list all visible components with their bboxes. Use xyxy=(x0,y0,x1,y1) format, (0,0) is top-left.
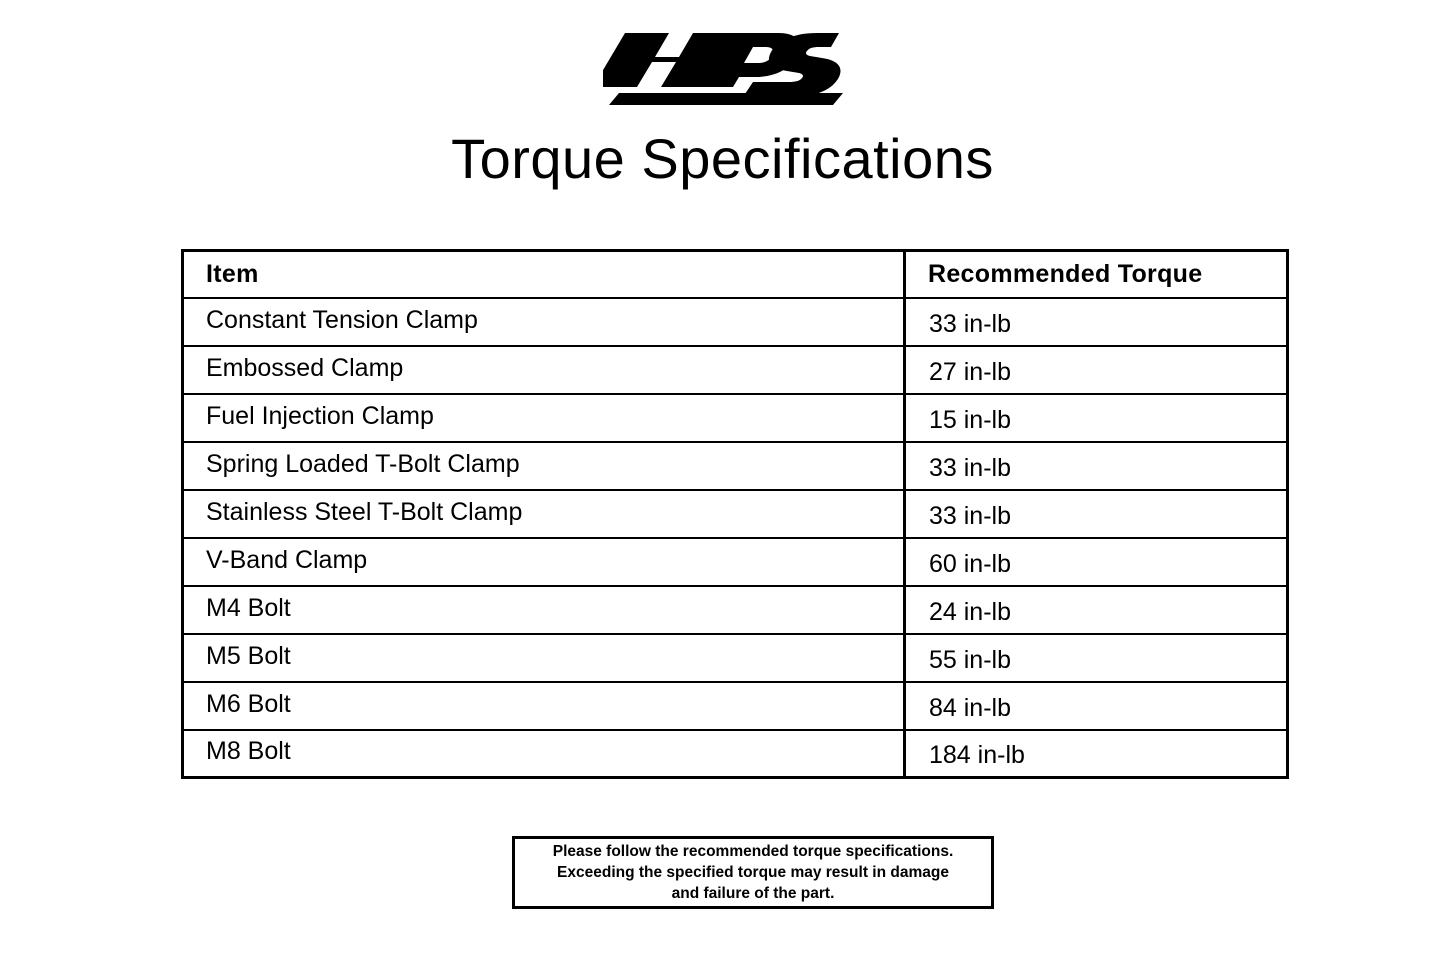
warning-note-box: Please follow the recommended torque spe… xyxy=(512,836,994,909)
cell-torque: 184 in-lb xyxy=(905,730,1288,778)
hps-logo-icon xyxy=(603,31,843,105)
note-line: Exceeding the specified torque may resul… xyxy=(557,862,949,883)
table-row: M5 Bolt 55 in-lb xyxy=(183,634,1288,682)
cell-item: M4 Bolt xyxy=(183,586,905,634)
table-row: M6 Bolt 84 in-lb xyxy=(183,682,1288,730)
column-header-recommended-torque: Recommended Torque xyxy=(905,251,1288,298)
table-row: Stainless Steel T-Bolt Clamp 33 in-lb xyxy=(183,490,1288,538)
cell-item: Embossed Clamp xyxy=(183,346,905,394)
cell-item: M6 Bolt xyxy=(183,682,905,730)
cell-torque: 60 in-lb xyxy=(905,538,1288,586)
column-header-item: Item xyxy=(183,251,905,298)
brand-logo xyxy=(0,28,1445,108)
cell-item: Stainless Steel T-Bolt Clamp xyxy=(183,490,905,538)
cell-item: Fuel Injection Clamp xyxy=(183,394,905,442)
cell-torque: 84 in-lb xyxy=(905,682,1288,730)
cell-torque: 15 in-lb xyxy=(905,394,1288,442)
table-row: Constant Tension Clamp 33 in-lb xyxy=(183,298,1288,346)
cell-item: Constant Tension Clamp xyxy=(183,298,905,346)
table-row: Fuel Injection Clamp 15 in-lb xyxy=(183,394,1288,442)
cell-item: M8 Bolt xyxy=(183,730,905,778)
cell-torque: 33 in-lb xyxy=(905,442,1288,490)
cell-torque: 55 in-lb xyxy=(905,634,1288,682)
page-title: Torque Specifications xyxy=(0,131,1445,187)
table-row: Embossed Clamp 27 in-lb xyxy=(183,346,1288,394)
table-row: M8 Bolt 184 in-lb xyxy=(183,730,1288,778)
note-line: and failure of the part. xyxy=(672,883,835,904)
cell-torque: 33 in-lb xyxy=(905,490,1288,538)
note-line: Please follow the recommended torque spe… xyxy=(553,841,954,862)
cell-item: M5 Bolt xyxy=(183,634,905,682)
table-row: V-Band Clamp 60 in-lb xyxy=(183,538,1288,586)
torque-specifications-table: Item Recommended Torque Constant Tension… xyxy=(181,249,1289,779)
cell-torque: 24 in-lb xyxy=(905,586,1288,634)
table-row: Spring Loaded T-Bolt Clamp 33 in-lb xyxy=(183,442,1288,490)
cell-item: Spring Loaded T-Bolt Clamp xyxy=(183,442,905,490)
cell-item: V-Band Clamp xyxy=(183,538,905,586)
cell-torque: 33 in-lb xyxy=(905,298,1288,346)
table-header-row: Item Recommended Torque xyxy=(183,251,1288,298)
cell-torque: 27 in-lb xyxy=(905,346,1288,394)
table-row: M4 Bolt 24 in-lb xyxy=(183,586,1288,634)
